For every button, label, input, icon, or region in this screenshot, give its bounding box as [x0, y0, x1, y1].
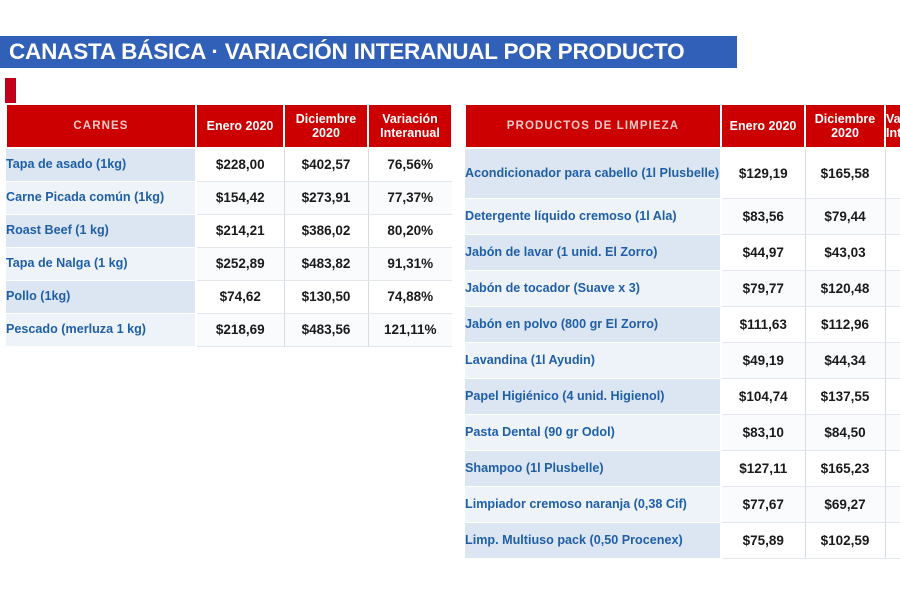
table-row: Pollo (1kg)$74,62$130,5074,88%	[6, 280, 452, 313]
cell-enero: $49,19	[721, 342, 805, 378]
table-row: Tapa de Nalga (1 kg)$252,89$483,8291,31%	[6, 247, 452, 280]
cell-enero: $129,19	[721, 148, 805, 198]
cell-diciembre: $273,91	[284, 181, 368, 214]
cell-diciembre: $102,59	[805, 522, 885, 558]
cell-product-name: Limp. Multiuso pack (0,50 Procenex)	[465, 522, 721, 558]
header-category-limpieza: PRODUCTOS DE LIMPIEZA	[465, 104, 721, 148]
cell-diciembre: $402,57	[284, 148, 368, 181]
cell-enero: $252,89	[196, 247, 284, 280]
table-row: Jabón en polvo (800 gr El Zorro)$111,63$…	[465, 306, 900, 342]
cell-product-name: Jabón de tocador (Suave x 3)	[465, 270, 721, 306]
title-text: CANASTA BÁSICA · VARIACIÓN INTERANUAL PO…	[9, 41, 684, 64]
table-row: Jabón de tocador (Suave x 3)$79,77$120,4…	[465, 270, 900, 306]
header-diciembre-carnes: Diciembre 2020	[284, 104, 368, 148]
cell-enero: $83,56	[721, 198, 805, 234]
table-carnes: CARNES Enero 2020 Diciembre 2020 Variaci…	[5, 103, 453, 347]
cell-enero: $111,63	[721, 306, 805, 342]
table-row: Jabón de lavar (1 unid. El Zorro)$44,97$…	[465, 234, 900, 270]
cell-enero: $228,00	[196, 148, 284, 181]
cell-product-name: Pollo (1kg)	[6, 280, 196, 313]
cell-product-name: Pasta Dental (90 gr Odol)	[465, 414, 721, 450]
table-row: Lavandina (1l Ayudin)$49,19$44,34	[465, 342, 900, 378]
cell-diciembre: $79,44	[805, 198, 885, 234]
cell-variacion	[885, 270, 900, 306]
cell-product-name: Papel Higiénico (4 unid. Higienol)	[465, 378, 721, 414]
cell-diciembre: $130,50	[284, 280, 368, 313]
table-row: Limpiador cremoso naranja (0,38 Cif)$77,…	[465, 486, 900, 522]
table-row: Detergente líquido cremoso (1l Ala)$83,5…	[465, 198, 900, 234]
cell-variacion	[885, 378, 900, 414]
table-carnes-header: CARNES Enero 2020 Diciembre 2020 Variaci…	[6, 104, 452, 148]
header-variacion-carnes: Variación Interanual	[368, 104, 452, 148]
cell-diciembre: $165,58	[805, 148, 885, 198]
header-category-carnes: CARNES	[6, 104, 196, 148]
cell-product-name: Tapa de asado (1kg)	[6, 148, 196, 181]
cell-diciembre: $120,48	[805, 270, 885, 306]
cell-diciembre: $137,55	[805, 378, 885, 414]
cell-enero: $104,74	[721, 378, 805, 414]
cell-diciembre: $112,96	[805, 306, 885, 342]
cell-variacion: 91,31%	[368, 247, 452, 280]
table-row: Carne Picada común (1kg)$154,42$273,9177…	[6, 181, 452, 214]
cell-variacion: 121,11%	[368, 313, 452, 346]
cell-variacion	[885, 306, 900, 342]
cell-diciembre: $44,34	[805, 342, 885, 378]
table-limpieza: PRODUCTOS DE LIMPIEZA Enero 2020 Diciemb…	[464, 103, 900, 559]
cell-product-name: Pescado (merluza 1 kg)	[6, 313, 196, 346]
cell-diciembre: $165,23	[805, 450, 885, 486]
cell-variacion: 76,56%	[368, 148, 452, 181]
header-variacion-limpieza: Variación Interanual	[885, 104, 900, 148]
table-limpieza-header: PRODUCTOS DE LIMPIEZA Enero 2020 Diciemb…	[465, 104, 900, 148]
cell-enero: $44,97	[721, 234, 805, 270]
cell-product-name: Roast Beef (1 kg)	[6, 214, 196, 247]
title-bar: CANASTA BÁSICA · VARIACIÓN INTERANUAL PO…	[0, 36, 737, 68]
cell-enero: $75,89	[721, 522, 805, 558]
cell-variacion: 80,20%	[368, 214, 452, 247]
cell-enero: $77,67	[721, 486, 805, 522]
table-row: Shampoo (1l Plusbelle)$127,11$165,23	[465, 450, 900, 486]
table-carnes-body: Tapa de asado (1kg)$228,00$402,5776,56%C…	[6, 148, 452, 346]
cell-diciembre: $84,50	[805, 414, 885, 450]
header-enero-limpieza: Enero 2020	[721, 104, 805, 148]
cell-product-name: Tapa de Nalga (1 kg)	[6, 247, 196, 280]
cell-enero: $74,62	[196, 280, 284, 313]
cell-enero: $83,10	[721, 414, 805, 450]
cell-product-name: Jabón en polvo (800 gr El Zorro)	[465, 306, 721, 342]
table-row: Pescado (merluza 1 kg)$218,69$483,56121,…	[6, 313, 452, 346]
cell-enero: $218,69	[196, 313, 284, 346]
cell-diciembre: $483,56	[284, 313, 368, 346]
table-row: Papel Higiénico (4 unid. Higienol)$104,7…	[465, 378, 900, 414]
header-enero-carnes: Enero 2020	[196, 104, 284, 148]
red-accent-tick	[5, 78, 16, 105]
cell-variacion	[885, 198, 900, 234]
cell-diciembre: $386,02	[284, 214, 368, 247]
cell-variacion: 74,88%	[368, 280, 452, 313]
cell-variacion	[885, 148, 900, 198]
cell-variacion: 77,37%	[368, 181, 452, 214]
cell-product-name: Jabón de lavar (1 unid. El Zorro)	[465, 234, 721, 270]
cell-enero: $154,42	[196, 181, 284, 214]
cell-product-name: Detergente líquido cremoso (1l Ala)	[465, 198, 721, 234]
cell-diciembre: $483,82	[284, 247, 368, 280]
cell-variacion	[885, 234, 900, 270]
table-row: Roast Beef (1 kg)$214,21$386,0280,20%	[6, 214, 452, 247]
cell-product-name: Acondicionador para cabello (1l Plusbell…	[465, 148, 721, 198]
cell-enero: $127,11	[721, 450, 805, 486]
table-row: Acondicionador para cabello (1l Plusbell…	[465, 148, 900, 198]
cell-product-name: Limpiador cremoso naranja (0,38 Cif)	[465, 486, 721, 522]
page-title: CANASTA BÁSICA · VARIACIÓN INTERANUAL PO…	[0, 36, 737, 68]
cell-diciembre: $69,27	[805, 486, 885, 522]
cell-variacion	[885, 522, 900, 558]
cell-variacion	[885, 342, 900, 378]
cell-product-name: Carne Picada común (1kg)	[6, 181, 196, 214]
page-canvas: CANASTA BÁSICA · VARIACIÓN INTERANUAL PO…	[0, 0, 900, 600]
table-row: Limp. Multiuso pack (0,50 Procenex)$75,8…	[465, 522, 900, 558]
cell-enero: $214,21	[196, 214, 284, 247]
header-diciembre-limpieza: Diciembre 2020	[805, 104, 885, 148]
cell-variacion	[885, 486, 900, 522]
table-row: Pasta Dental (90 gr Odol)$83,10$84,50	[465, 414, 900, 450]
cell-diciembre: $43,03	[805, 234, 885, 270]
cell-product-name: Shampoo (1l Plusbelle)	[465, 450, 721, 486]
cell-variacion	[885, 450, 900, 486]
table-row: Tapa de asado (1kg)$228,00$402,5776,56%	[6, 148, 452, 181]
cell-enero: $79,77	[721, 270, 805, 306]
table-limpieza-body: Acondicionador para cabello (1l Plusbell…	[465, 148, 900, 558]
cell-product-name: Lavandina (1l Ayudin)	[465, 342, 721, 378]
cell-variacion	[885, 414, 900, 450]
